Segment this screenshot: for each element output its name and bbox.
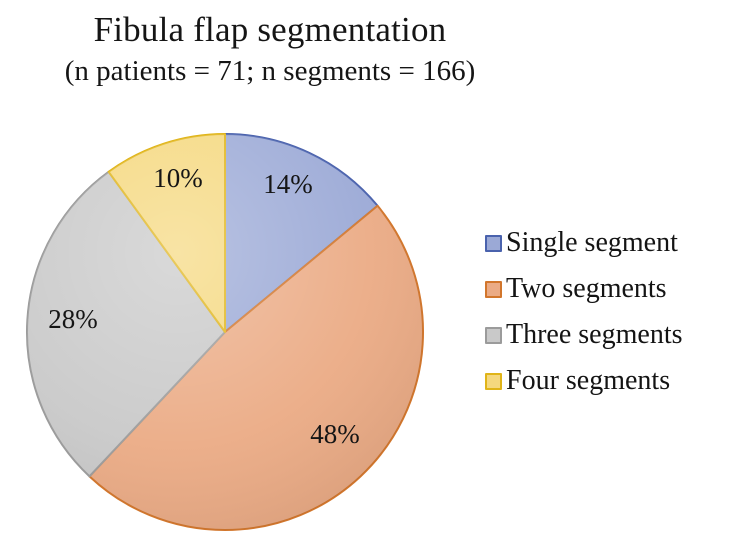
legend-item-label: Two segments xyxy=(506,275,667,303)
pie-slice-value-label: 10% xyxy=(153,163,203,193)
chart-subtitle: (n patients = 71; n segments = 166) xyxy=(0,52,540,90)
legend-item-label: Single segment xyxy=(506,229,678,257)
chart-title: Fibula flap segmentation xyxy=(0,8,540,52)
legend-item[interactable]: Four segments xyxy=(485,358,735,404)
pie-plot-area: 14%48%28%10% xyxy=(18,128,434,538)
pie-slice-value-label: 14% xyxy=(263,169,313,199)
pie-slice-value-label: 28% xyxy=(48,304,98,334)
legend-swatch-icon xyxy=(485,281,502,298)
title-block: Fibula flap segmentation (n patients = 7… xyxy=(0,8,540,90)
legend-item[interactable]: Three segments xyxy=(485,312,735,358)
legend-item-label: Three segments xyxy=(506,321,683,349)
legend-swatch-icon xyxy=(485,327,502,344)
legend-swatch-icon xyxy=(485,235,502,252)
legend-item-label: Four segments xyxy=(506,367,670,395)
pie-chart-figure: Fibula flap segmentation (n patients = 7… xyxy=(0,0,740,543)
legend: Single segmentTwo segmentsThree segments… xyxy=(485,220,735,404)
legend-item[interactable]: Single segment xyxy=(485,220,735,266)
pie-slice-value-label: 48% xyxy=(310,419,360,449)
pie-svg: 14%48%28%10% xyxy=(18,128,434,538)
legend-swatch-icon xyxy=(485,373,502,390)
legend-item[interactable]: Two segments xyxy=(485,266,735,312)
